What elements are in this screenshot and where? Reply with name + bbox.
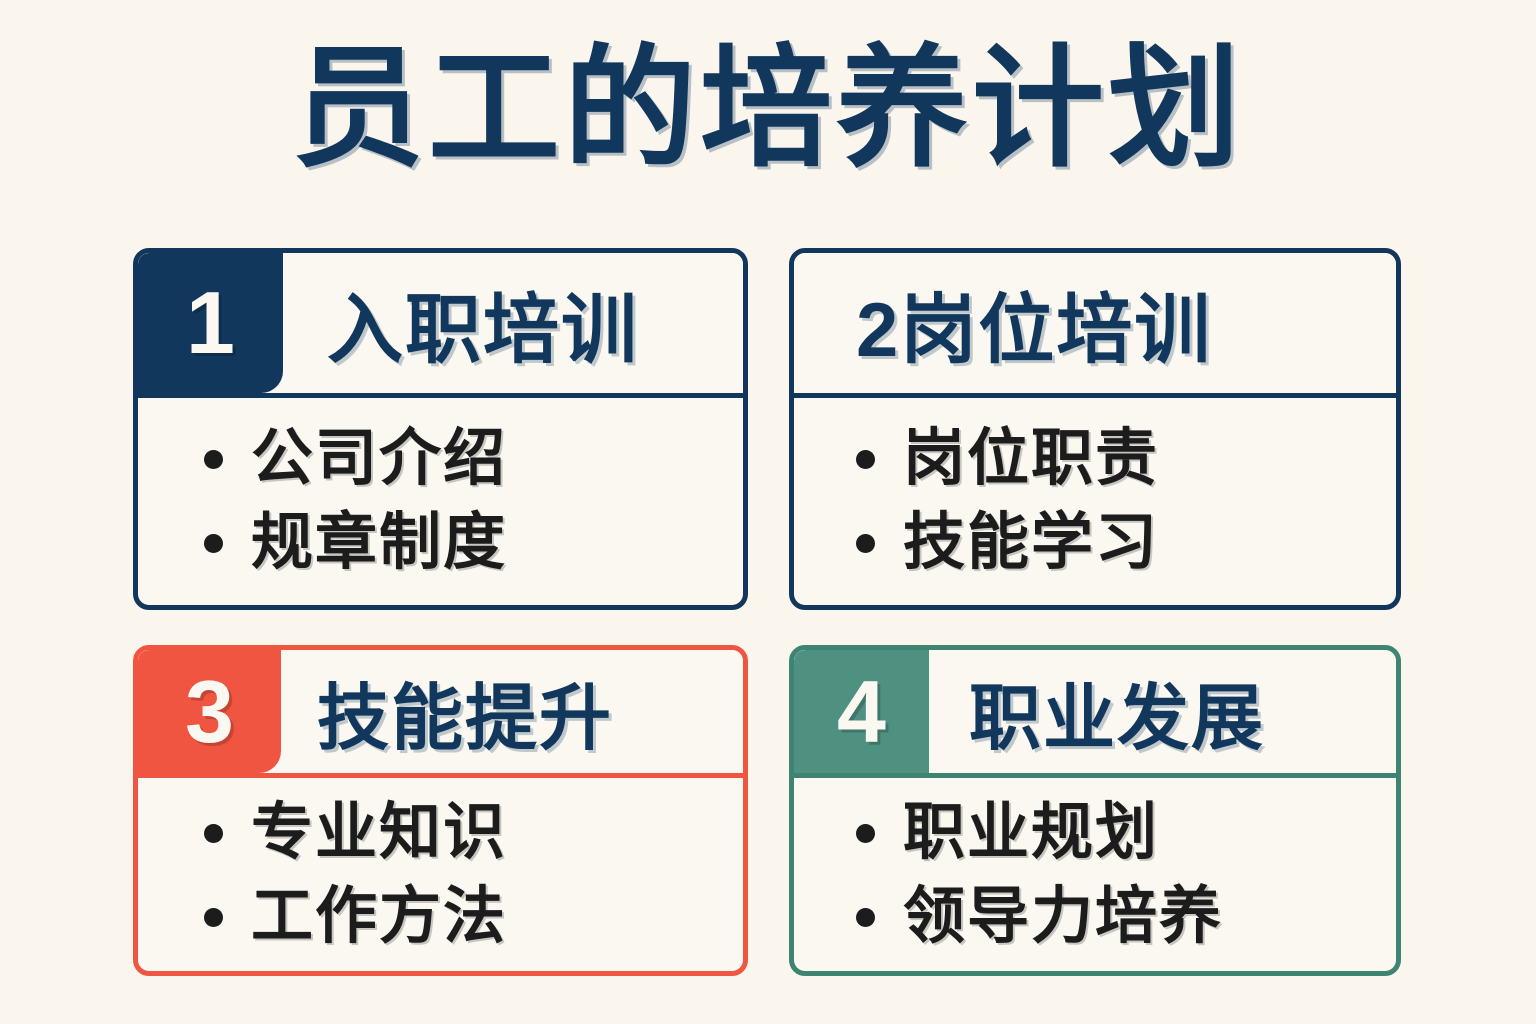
card-title: 入职培训 bbox=[283, 253, 743, 393]
list-item-label: 岗位职责 bbox=[903, 428, 1159, 490]
card-title: 技能提升 bbox=[281, 650, 743, 773]
card-grid: 1 入职培训 公司介绍 规章制度 2 2岗位培训 bbox=[133, 248, 1401, 976]
card-number-badge: 3 bbox=[138, 650, 281, 773]
card-header: 3 技能提升 bbox=[138, 650, 743, 778]
list-item: 技能学习 bbox=[794, 512, 1396, 574]
card-body: 公司介绍 规章制度 bbox=[138, 398, 743, 574]
card-body: 专业知识 工作方法 bbox=[138, 778, 743, 948]
card-title: 职业发展 bbox=[929, 650, 1396, 773]
bullet-list: 专业知识 工作方法 bbox=[138, 802, 743, 948]
bullet-dot-icon bbox=[856, 908, 875, 927]
card-header: 4 职业发展 bbox=[794, 650, 1396, 778]
list-item: 专业知识 bbox=[138, 802, 743, 864]
card-skill-improvement[interactable]: 3 技能提升 专业知识 工作方法 bbox=[133, 645, 748, 976]
list-item-label: 职业规划 bbox=[903, 802, 1159, 864]
bullet-list: 公司介绍 规章制度 bbox=[138, 428, 743, 574]
bullet-dot-icon bbox=[856, 450, 875, 469]
list-item: 岗位职责 bbox=[794, 428, 1396, 490]
card-number-badge: 4 bbox=[794, 650, 929, 773]
card-body: 职业规划 领导力培养 bbox=[794, 778, 1396, 948]
list-item-label: 规章制度 bbox=[251, 512, 507, 574]
list-item: 规章制度 bbox=[138, 512, 743, 574]
bullet-dot-icon bbox=[204, 824, 223, 843]
bullet-dot-icon bbox=[204, 908, 223, 927]
bullet-dot-icon bbox=[856, 534, 875, 553]
card-title: 2岗位培训 bbox=[794, 253, 1396, 393]
list-item-label: 公司介绍 bbox=[251, 428, 507, 490]
list-item-label: 技能学习 bbox=[903, 512, 1159, 574]
card-number-badge: 1 bbox=[138, 253, 283, 393]
list-item: 工作方法 bbox=[138, 886, 743, 948]
card-onboarding-training[interactable]: 1 入职培训 公司介绍 规章制度 bbox=[133, 248, 748, 610]
card-body: 岗位职责 技能学习 bbox=[794, 398, 1396, 574]
list-item-label: 领导力培养 bbox=[903, 886, 1223, 948]
list-item: 职业规划 bbox=[794, 802, 1396, 864]
list-item-label: 专业知识 bbox=[251, 802, 507, 864]
card-header: 1 入职培训 bbox=[138, 253, 743, 398]
page-title: 员工的培养计划 bbox=[0, 34, 1536, 184]
bullet-dot-icon bbox=[204, 450, 223, 469]
bullet-dot-icon bbox=[856, 824, 875, 843]
bullet-list: 岗位职责 技能学习 bbox=[794, 428, 1396, 574]
card-career-development[interactable]: 4 职业发展 职业规划 领导力培养 bbox=[789, 645, 1401, 976]
card-header: 2 2岗位培训 bbox=[794, 253, 1396, 398]
list-item: 公司介绍 bbox=[138, 428, 743, 490]
list-item-label: 工作方法 bbox=[251, 886, 507, 948]
card-position-training[interactable]: 2 2岗位培训 岗位职责 技能学习 bbox=[789, 248, 1401, 610]
bullet-list: 职业规划 领导力培养 bbox=[794, 802, 1396, 948]
bullet-dot-icon bbox=[204, 534, 223, 553]
list-item: 领导力培养 bbox=[794, 886, 1396, 948]
